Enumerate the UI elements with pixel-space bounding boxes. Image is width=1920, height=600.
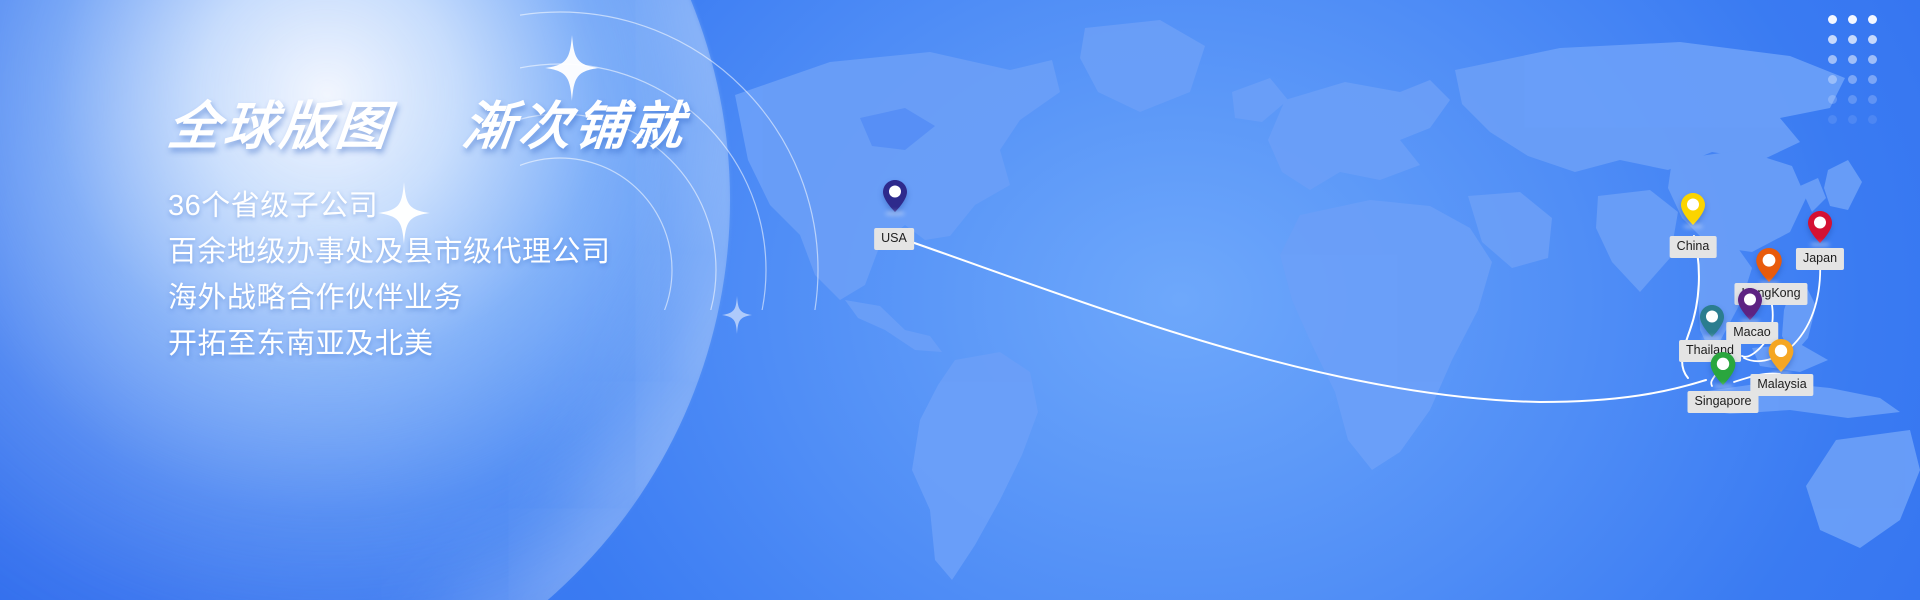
- map-marker-thailand[interactable]: [1700, 305, 1724, 337]
- headline-block: 全球版图 渐次铺就 36个省级子公司 百余地级办事处及县市级代理公司 海外战略合…: [168, 100, 988, 367]
- map-marker-china[interactable]: [1681, 193, 1705, 225]
- global-map-banner: USA China Japan HongKong Macao Thailand: [0, 0, 1920, 600]
- map-marker-malaysia[interactable]: [1769, 339, 1794, 372]
- map-marker-japan[interactable]: [1808, 211, 1832, 243]
- map-label-malaysia[interactable]: Malaysia: [1750, 374, 1813, 396]
- subtitle-line-1: 36个省级子公司: [168, 183, 988, 229]
- map-label-china[interactable]: China: [1670, 236, 1717, 258]
- map-marker-hongkong[interactable]: [1756, 248, 1782, 282]
- subtitle-line-2: 百余地级办事处及县市级代理公司: [168, 229, 988, 275]
- subtitle-list: 36个省级子公司 百余地级办事处及县市级代理公司 海外战略合作伙伴业务 开拓至东…: [168, 183, 988, 367]
- subtitle-line-3: 海外战略合作伙伴业务: [168, 275, 988, 321]
- page-title: 全球版图 渐次铺就: [165, 100, 991, 155]
- map-marker-macao[interactable]: [1738, 288, 1762, 320]
- map-marker-singapore[interactable]: [1711, 352, 1736, 385]
- marker-shadow-singapore: [1713, 384, 1733, 389]
- subtitle-line-4: 开拓至东南亚及北美: [168, 321, 988, 367]
- marker-shadow-japan: [1810, 242, 1830, 247]
- page-title-part-1: 全球版图: [165, 98, 395, 156]
- page-title-part-2: 渐次铺就: [460, 98, 690, 156]
- marker-shadow-china: [1683, 224, 1703, 229]
- map-label-singapore[interactable]: Singapore: [1688, 391, 1759, 413]
- map-label-japan[interactable]: Japan: [1796, 248, 1844, 270]
